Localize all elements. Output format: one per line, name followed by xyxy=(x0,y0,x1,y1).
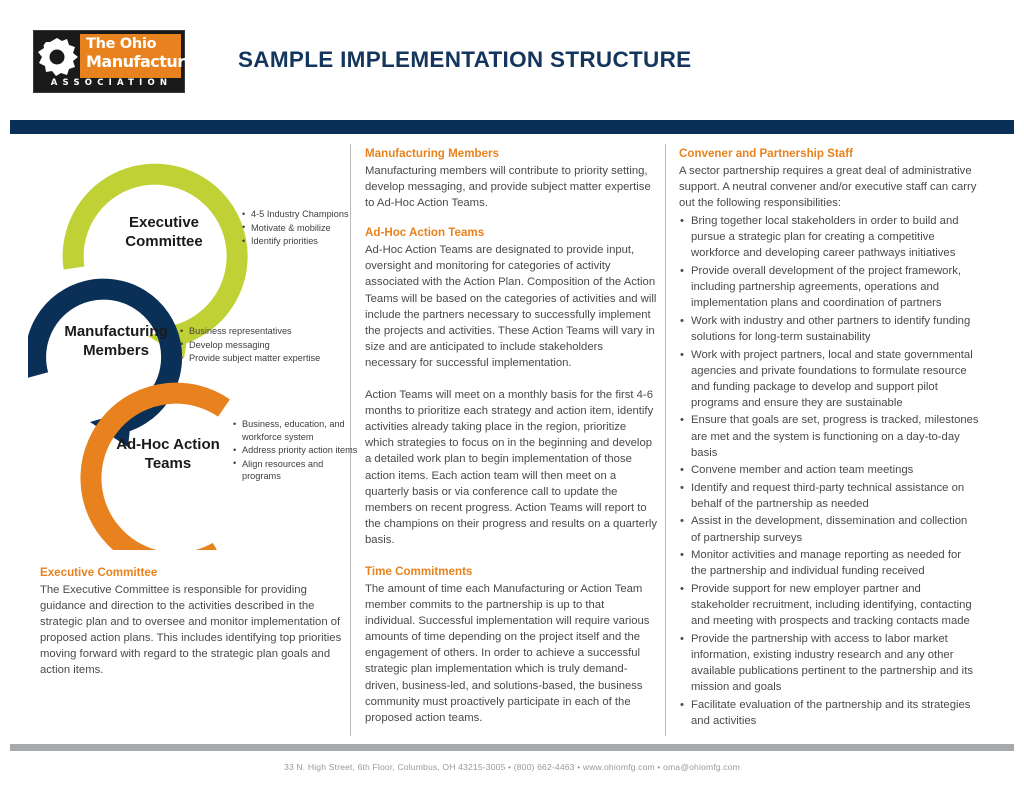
list-item: Ensure that goals are set, progress is t… xyxy=(679,412,979,460)
list-item: Business representatives xyxy=(180,325,360,338)
diagram-label-adhoc-line2: Teams xyxy=(94,454,242,473)
list-item: Convene member and action team meetings xyxy=(679,462,979,478)
logo-association-text: ASSOCIATION xyxy=(37,77,181,90)
list-item: Align resources and programs xyxy=(233,458,361,483)
section-heading: Time Commitments xyxy=(365,564,657,580)
section-paragraph: Manufacturing members will contribute to… xyxy=(365,163,657,211)
column-divider-2 xyxy=(665,144,666,736)
section-ad-hoc-action-teams: Ad-Hoc Action Teams Ad-Hoc Action Teams … xyxy=(365,225,657,548)
list-item: Monitor activities and manage reporting … xyxy=(679,547,979,579)
logo-line-1: The Ohio xyxy=(86,36,156,52)
page-header: The Ohio Manufacturers' ASSOCIATION SAMP… xyxy=(0,0,1024,118)
list-item: Business, education, and workforce syste… xyxy=(233,418,361,443)
list-item: Provide subject matter expertise xyxy=(180,352,360,365)
list-item: Provide support for new employer partner… xyxy=(679,581,979,629)
section-heading: Convener and Partnership Staff xyxy=(679,146,979,162)
convener-responsibilities-list: Bring together local stakeholders in ord… xyxy=(679,213,979,728)
diagram-label-executive-committee: Executive Committee xyxy=(94,213,234,251)
list-item: Provide overall development of the proje… xyxy=(679,263,979,311)
implementation-cycle-diagram: Executive Committee Manufacturing Member… xyxy=(28,140,346,550)
section-body: The Executive Committee is responsible f… xyxy=(40,582,350,679)
list-item: Motivate & mobilize xyxy=(242,222,372,235)
diagram-bullets-manufacturing-members: Business representatives Develop messagi… xyxy=(180,325,360,366)
section-intro: A sector partnership requires a great de… xyxy=(679,163,979,211)
diagram-label-exec-line1: Executive xyxy=(94,213,234,232)
section-paragraph: The amount of time each Manufacturing or… xyxy=(365,581,657,726)
list-item: Facilitate evaluation of the partnership… xyxy=(679,697,979,729)
right-column: Convener and Partnership Staff A sector … xyxy=(679,146,979,730)
diagram-label-manufacturing-members: Manufacturing Members xyxy=(36,322,196,360)
diagram-bullets-executive-committee: 4-5 Industry Champions Motivate & mobili… xyxy=(242,208,372,249)
section-time-commitments: Time Commitments The amount of time each… xyxy=(365,564,657,726)
diagram-label-mfg-line2: Members xyxy=(36,341,196,360)
list-item: Work with project partners, local and st… xyxy=(679,347,979,411)
logo-line-2: Manufacturers' xyxy=(86,53,216,71)
list-item: Provide the partnership with access to l… xyxy=(679,631,979,695)
content-area: Executive Committee Manufacturing Member… xyxy=(0,140,1024,740)
list-item: Identify priorities xyxy=(242,235,372,248)
list-item: Address priority action items xyxy=(233,444,361,457)
section-heading: Manufacturing Members xyxy=(365,146,657,162)
diagram-bullets-ad-hoc-action-teams: Business, education, and workforce syste… xyxy=(233,418,361,484)
list-item: Develop messaging xyxy=(180,339,360,352)
header-navy-rule xyxy=(10,120,1014,134)
diagram-label-exec-line2: Committee xyxy=(94,232,234,251)
section-heading: Executive Committee xyxy=(40,565,350,581)
list-item: Work with industry and other partners to… xyxy=(679,313,979,345)
list-item: Assist in the development, dissemination… xyxy=(679,513,979,545)
diagram-label-mfg-line1: Manufacturing xyxy=(36,322,196,341)
section-paragraph: Ad-Hoc Action Teams are designated to pr… xyxy=(365,242,657,371)
list-item: Identify and request third-party technic… xyxy=(679,480,979,512)
diagram-label-adhoc-line1: Ad-Hoc Action xyxy=(94,435,242,454)
oma-logo: The Ohio Manufacturers' ASSOCIATION xyxy=(33,30,185,93)
list-item: 4-5 Industry Champions xyxy=(242,208,372,221)
diagram-label-ad-hoc-action-teams: Ad-Hoc Action Teams xyxy=(94,435,242,473)
list-item: Bring together local stakeholders in ord… xyxy=(679,213,979,261)
left-column: Executive Committee Manufacturing Member… xyxy=(28,140,346,550)
gear-icon xyxy=(37,34,79,78)
section-manufacturing-members: Manufacturing Members Manufacturing memb… xyxy=(365,146,657,211)
middle-column: Manufacturing Members Manufacturing memb… xyxy=(365,146,657,740)
document-page: The Ohio Manufacturers' ASSOCIATION SAMP… xyxy=(0,0,1024,791)
executive-committee-section: Executive Committee The Executive Commit… xyxy=(40,565,350,679)
section-paragraph: Action Teams will meet on a monthly basi… xyxy=(365,387,657,548)
logo-orange-block: The Ohio Manufacturers' xyxy=(80,34,181,78)
footer-gray-rule xyxy=(10,744,1014,751)
footer-contact-info: 33 N. High Street, 6th Floor, Columbus, … xyxy=(0,762,1024,772)
page-title: SAMPLE IMPLEMENTATION STRUCTURE xyxy=(238,47,691,73)
section-heading: Ad-Hoc Action Teams xyxy=(365,225,657,241)
